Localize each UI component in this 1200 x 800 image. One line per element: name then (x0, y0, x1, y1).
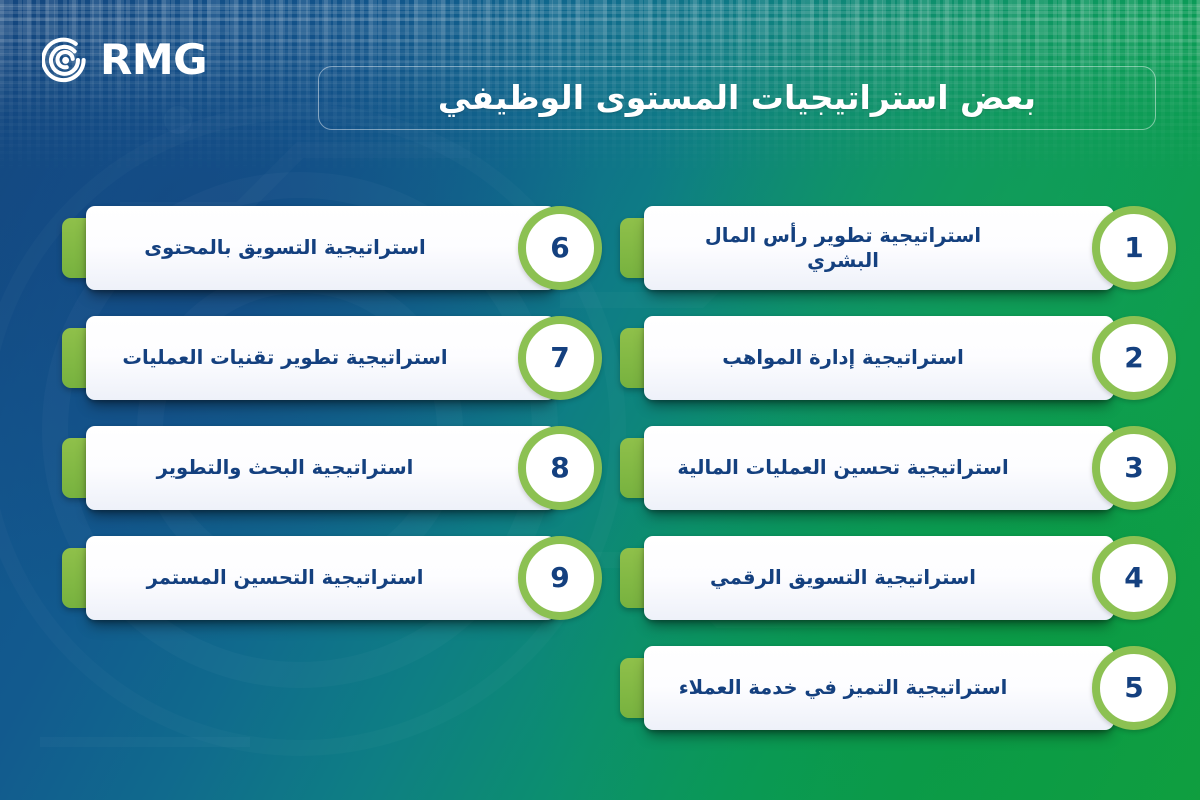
strategy-number-badge: 5 (1092, 646, 1176, 730)
strategy-card[interactable]: استراتيجية التحسين المستمر (86, 536, 556, 620)
list-item[interactable]: استراتيجية التميز في خدمة العملاء 5 (620, 646, 1176, 730)
list-item[interactable]: استراتيجية البحث والتطوير 8 (62, 426, 602, 510)
list-item[interactable]: استراتيجية تحسين العمليات المالية 3 (620, 426, 1176, 510)
page-title: بعض استراتيجيات المستوى الوظيفي (438, 79, 1036, 117)
strategy-number: 6 (550, 234, 569, 262)
brand-name: RMG (100, 39, 207, 81)
strategy-columns: استراتيجية تطوير رأس المال البشري 1 استر… (0, 206, 1200, 746)
strategy-card[interactable]: استراتيجية إدارة المواهب (644, 316, 1114, 400)
strategy-label: استراتيجية تطوير تقنيات العمليات (116, 345, 464, 370)
strategy-number: 9 (550, 564, 569, 592)
strategy-card[interactable]: استراتيجية التميز في خدمة العملاء (644, 646, 1114, 730)
list-item[interactable]: استراتيجية تطوير رأس المال البشري 1 (620, 206, 1176, 290)
page-title-pill: بعض استراتيجيات المستوى الوظيفي (318, 66, 1156, 130)
strategy-number-badge: 1 (1092, 206, 1176, 290)
strategy-number-badge: 8 (518, 426, 602, 510)
header: RMG بعض استراتيجيات المستوى الوظيفي (0, 0, 1200, 175)
strategy-number: 3 (1124, 454, 1143, 482)
strategy-card[interactable]: استراتيجية التسويق بالمحتوى (86, 206, 556, 290)
list-item[interactable]: استراتيجية التسويق الرقمي 4 (620, 536, 1176, 620)
list-item[interactable]: استراتيجية التحسين المستمر 9 (62, 536, 602, 620)
infographic-canvas: RMG بعض استراتيجيات المستوى الوظيفي استر… (0, 0, 1200, 800)
strategy-card[interactable]: استراتيجية التسويق الرقمي (644, 536, 1114, 620)
strategy-column-right: استراتيجية تطوير رأس المال البشري 1 استر… (620, 206, 1176, 730)
strategy-number-badge: 4 (1092, 536, 1176, 620)
strategy-label: استراتيجية التحسين المستمر (116, 565, 464, 590)
strategy-number: 1 (1124, 234, 1143, 262)
strategy-number-badge: 2 (1092, 316, 1176, 400)
strategy-number-badge: 7 (518, 316, 602, 400)
strategy-label: استراتيجية التسويق بالمحتوى (116, 235, 464, 260)
strategy-number-badge: 6 (518, 206, 602, 290)
strategy-number: 8 (550, 454, 569, 482)
list-item[interactable]: استراتيجية تطوير تقنيات العمليات 7 (62, 316, 602, 400)
strategy-number: 2 (1124, 344, 1143, 372)
strategy-card[interactable]: استراتيجية تطوير رأس المال البشري (644, 206, 1114, 290)
strategy-card[interactable]: استراتيجية تحسين العمليات المالية (644, 426, 1114, 510)
strategy-label: استراتيجية تحسين العمليات المالية (674, 455, 1022, 480)
strategy-label: استراتيجية التميز في خدمة العملاء (674, 675, 1022, 700)
list-item[interactable]: استراتيجية التسويق بالمحتوى 6 (62, 206, 602, 290)
strategy-label: استراتيجية التسويق الرقمي (674, 565, 1022, 590)
strategy-column-left: استراتيجية التسويق بالمحتوى 6 استراتيجية… (62, 206, 602, 620)
strategy-label: استراتيجية تطوير رأس المال البشري (674, 223, 1022, 274)
strategy-number: 7 (550, 344, 569, 372)
strategy-label: استراتيجية البحث والتطوير (116, 455, 464, 480)
strategy-number-badge: 3 (1092, 426, 1176, 510)
strategy-label: استراتيجية إدارة المواهب (674, 345, 1022, 370)
brand-logo[interactable]: RMG (42, 36, 207, 84)
strategy-card[interactable]: استراتيجية البحث والتطوير (86, 426, 556, 510)
strategy-number: 5 (1124, 674, 1143, 702)
strategy-card[interactable]: استراتيجية تطوير تقنيات العمليات (86, 316, 556, 400)
list-item[interactable]: استراتيجية إدارة المواهب 2 (620, 316, 1176, 400)
strategy-number: 4 (1124, 564, 1143, 592)
strategy-number-badge: 9 (518, 536, 602, 620)
rmg-spiral-icon (42, 36, 90, 84)
